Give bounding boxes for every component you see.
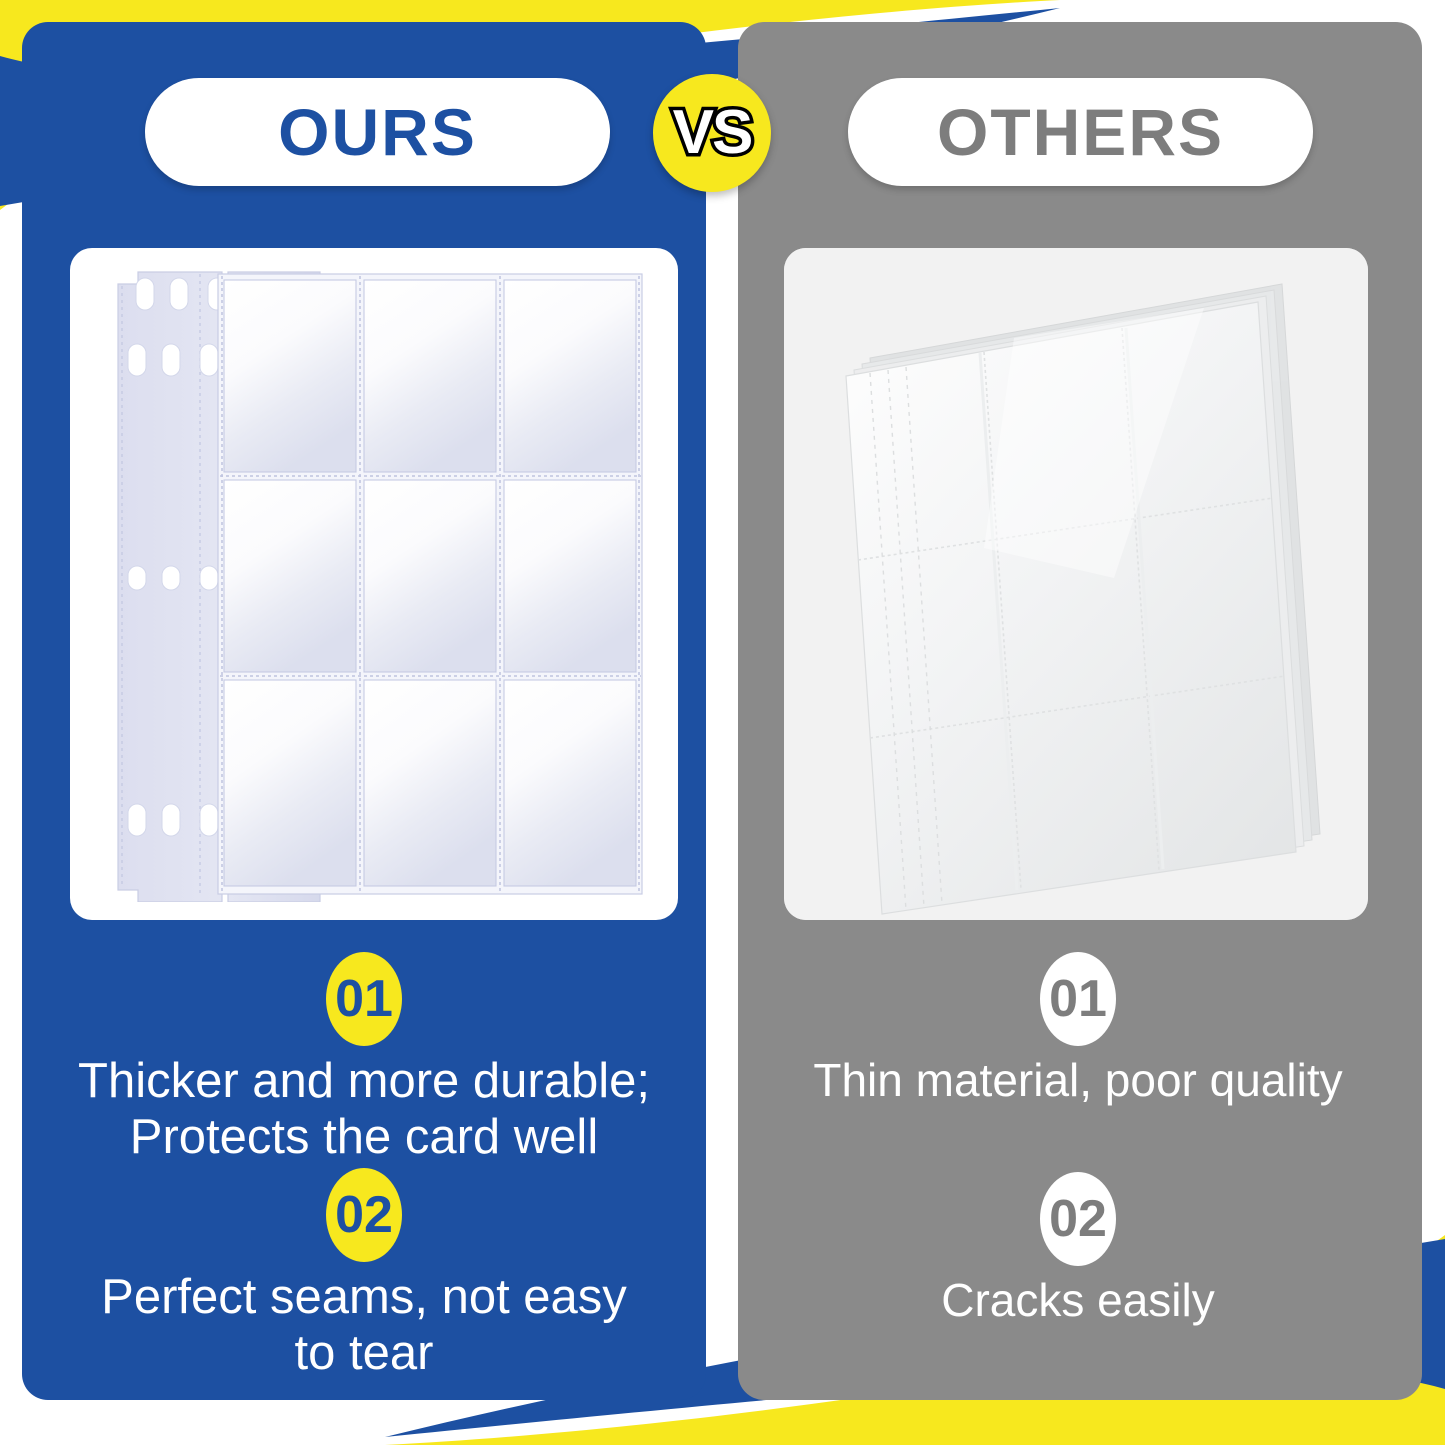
ours-feature-1: 01 Thicker and more durable; Protects th… [40, 952, 688, 1166]
ours-feature-1-text: Thicker and more durable; Protects the c… [40, 1054, 688, 1166]
ours-feature-1-number-badge: 01 [326, 952, 402, 1046]
others-feature-2: 02 Cracks easily [754, 1172, 1402, 1326]
nine-pocket-sleeve-page-graphic [96, 266, 652, 902]
ours-product-image [70, 248, 678, 920]
ours-feature-2-number-badge: 02 [326, 1168, 402, 1262]
others-product-image [784, 248, 1368, 920]
ours-feature-2-text: Perfect seams, not easy to tear [40, 1270, 688, 1382]
ours-header-pill: OURS [145, 78, 610, 186]
others-feature-1: 01 Thin material, poor quality [754, 952, 1402, 1106]
others-header-label: OTHERS [937, 99, 1224, 165]
comparison-infographic: OURS OTHERS VS [0, 0, 1445, 1445]
thin-sleeve-stack-graphic [784, 248, 1368, 920]
ours-header-label: OURS [278, 99, 477, 165]
others-feature-1-number-badge: 01 [1040, 952, 1116, 1046]
ours-feature-list: 01 Thicker and more durable; Protects th… [40, 952, 688, 1381]
vs-badge: VS [653, 74, 771, 192]
others-feature-2-text: Cracks easily [754, 1274, 1402, 1326]
others-feature-1-text: Thin material, poor quality [754, 1054, 1402, 1106]
vs-badge-label: VS [673, 102, 752, 164]
others-feature-list: 01 Thin material, poor quality 02 Cracks… [754, 952, 1402, 1327]
others-header-pill: OTHERS [848, 78, 1313, 186]
ours-feature-2: 02 Perfect seams, not easy to tear [40, 1168, 688, 1382]
others-feature-2-number-badge: 02 [1040, 1172, 1116, 1266]
